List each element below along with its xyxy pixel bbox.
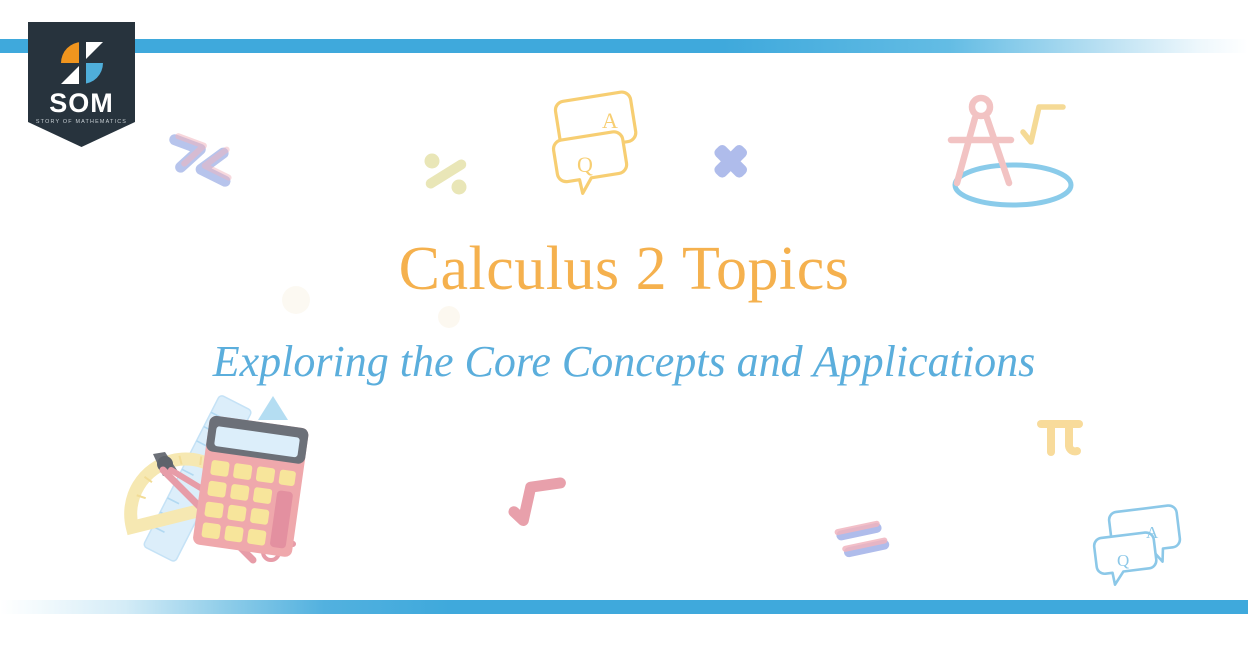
percent-symbol-icon	[418, 148, 476, 200]
multiply-symbol-icon	[706, 140, 754, 184]
svg-text:Q: Q	[577, 152, 593, 177]
logo-tagline: STORY OF MATHEMATICS	[28, 120, 135, 125]
svg-text:A: A	[602, 108, 618, 133]
equals-symbol-icon	[834, 518, 892, 564]
square-root-symbol-pink-icon	[505, 478, 575, 528]
qa-bubbles-blue-icon: A Q	[1092, 503, 1192, 581]
pi-symbol-icon	[1035, 412, 1085, 460]
svg-text:Q: Q	[1117, 551, 1129, 570]
bottom-accent-band	[0, 600, 1248, 614]
logo-wordmark: SOM	[28, 90, 135, 117]
page-subtitle: Exploring the Core Concepts and Applicat…	[0, 340, 1248, 384]
logo-s-mark-icon	[61, 39, 103, 85]
greater-less-symbols-icon	[168, 130, 238, 192]
svg-text:A: A	[1146, 523, 1159, 542]
compass-icon	[935, 85, 1095, 220]
som-logo: SOM STORY OF MATHEMATICS	[28, 22, 135, 147]
qa-bubbles-yellow-icon: A Q	[550, 80, 648, 180]
math-tools-illustration	[105, 392, 315, 582]
top-accent-band	[0, 39, 1248, 53]
slide-canvas: A Q	[0, 0, 1248, 649]
background-blob-mid	[432, 300, 466, 334]
page-title: Calculus 2 Topics	[0, 238, 1248, 300]
